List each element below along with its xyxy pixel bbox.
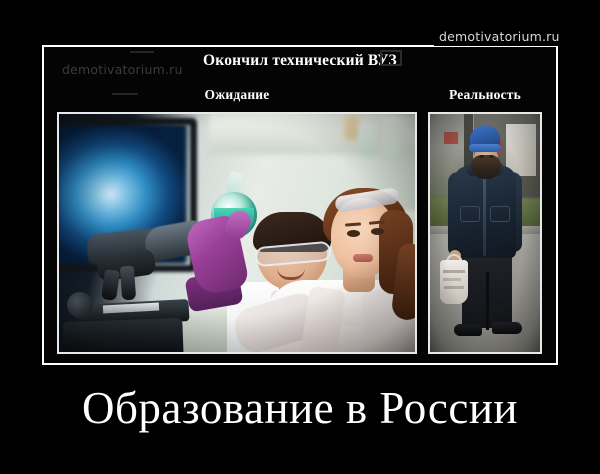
man-shoe-left [454, 324, 482, 336]
lab-bottle-amber [345, 114, 359, 140]
poster-headline: Окончил технический ВУЗ [42, 52, 558, 70]
female-scientist-lips [353, 254, 373, 262]
jacket-pocket-left [460, 206, 480, 222]
jacket-pocket-right [490, 206, 510, 222]
street-scene [430, 114, 540, 352]
lab-bottle-clear [383, 116, 401, 156]
microscope-base [62, 318, 183, 352]
microscope-objective [120, 266, 136, 301]
plastic-bag-print [443, 270, 465, 273]
female-scientist-eye-left [347, 230, 360, 237]
man-beard [471, 155, 501, 179]
plastic-bag-print [444, 286, 464, 289]
man-eye-left [479, 155, 484, 158]
female-scientist-eye-right [371, 228, 384, 235]
panel-label-expectation: Ожидание [57, 87, 417, 103]
man-shoe-right [492, 322, 522, 334]
lab-bottle-green [359, 122, 375, 156]
plastic-bag-icon [440, 260, 468, 304]
panel-label-reality: Реальность [428, 87, 542, 103]
lab-scene [59, 114, 415, 352]
jacket-zipper [483, 172, 486, 256]
photo-reality [428, 112, 542, 354]
knit-cap-brim [469, 144, 501, 152]
photo-expectation [57, 112, 417, 354]
plastic-bag-print [443, 278, 461, 281]
poster-title: Образование в России [0, 378, 600, 438]
man-eye-right [489, 155, 494, 158]
demotivator-poster: demotivatorium.ru demotivatorium.ru Окон… [0, 0, 600, 474]
site-watermark: demotivatorium.ru [434, 28, 565, 46]
wall-poster [444, 132, 458, 144]
microscope-focus-knob [67, 292, 93, 318]
man-leg-split [486, 272, 489, 330]
